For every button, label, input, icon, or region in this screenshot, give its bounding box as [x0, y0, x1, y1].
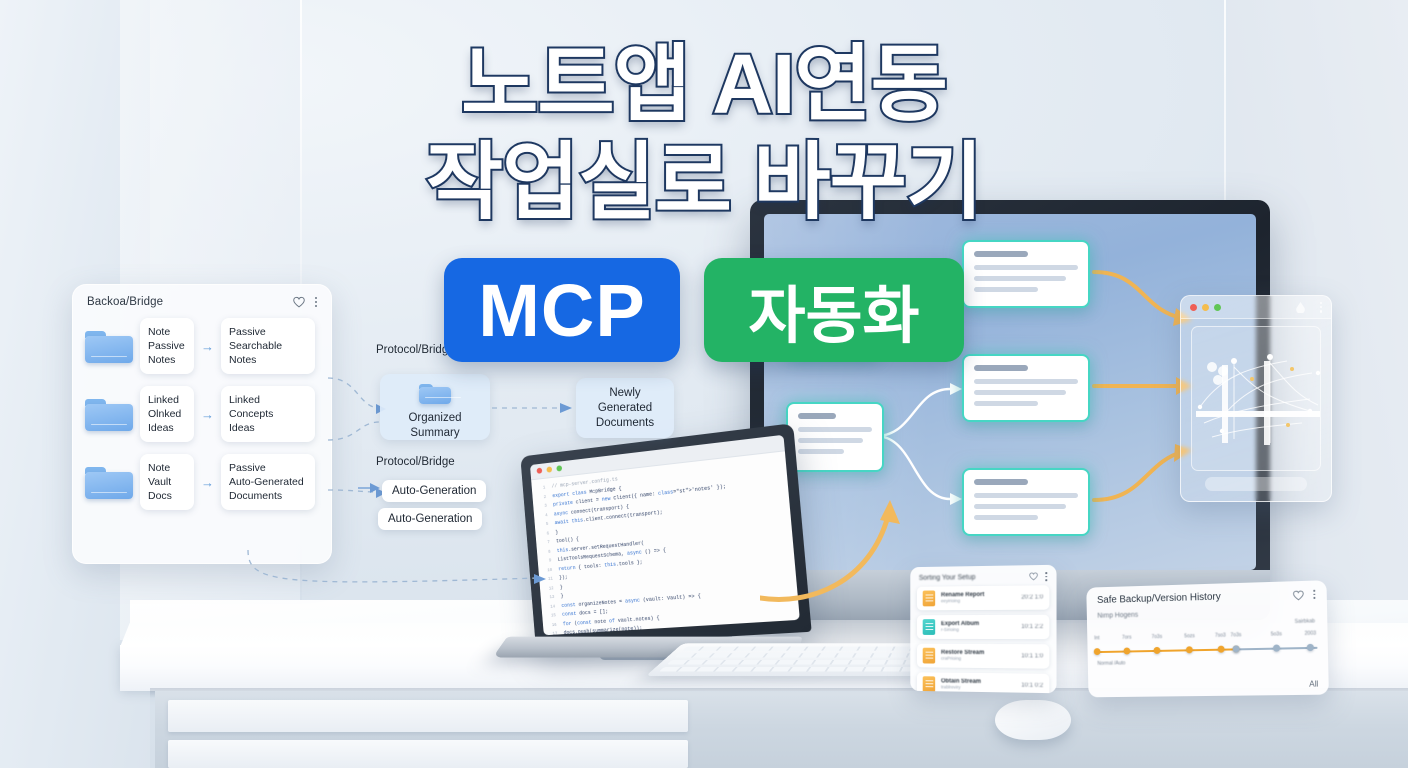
auto-generation-pill[interactable]: Auto-Generation	[378, 508, 482, 530]
badge-row: MCP 자동화	[0, 258, 1408, 362]
chart-bottom-label: Normal /Auto	[1097, 660, 1125, 666]
version-timeline-chart[interactable]: Sairbkab Normal /Auto Int7ors7o3s5ozs7so…	[1097, 616, 1319, 678]
traffic-light-minimize-icon[interactable]	[546, 466, 552, 472]
doc-card	[786, 402, 884, 472]
doc-line	[798, 449, 844, 454]
editor-code[interactable]: // mcp-server.config.tsexport class McpB…	[531, 450, 800, 635]
docs-line: Newly	[609, 387, 640, 399]
file-time: 10:1 0:2	[1021, 682, 1043, 688]
doc-line	[974, 379, 1078, 384]
chip-line: Passive	[229, 462, 266, 474]
file-sub: craPrioing	[941, 656, 1015, 662]
summary-line: Summary	[410, 427, 459, 439]
page-title-line1: 노트앱 AI연동	[0, 42, 1408, 126]
list-item[interactable]: Linked Olnked Ideas → Linked Concepts Id…	[73, 384, 331, 442]
chart-tick-label: 7o3s	[1152, 634, 1163, 640]
chip-line: Ideas	[148, 422, 174, 434]
chart-data-point[interactable]	[1217, 646, 1224, 653]
document-icon	[923, 647, 935, 663]
file-sub: trablreviry	[941, 685, 1015, 691]
doc-line	[798, 438, 863, 443]
file-time: 20:2 1:0	[1021, 594, 1043, 600]
chart-tick-label: 7ors	[1122, 635, 1132, 641]
protocol-label-bottom: Protocol/Bridge	[376, 456, 455, 468]
docs-line: Generated	[598, 402, 652, 414]
dashed-connector-bottom	[238, 540, 558, 600]
all-label[interactable]: All	[1309, 679, 1318, 688]
laptop-screen: 1234567891011121314151617181920 // mcp-s…	[530, 435, 800, 636]
chip-line: Note	[148, 462, 170, 474]
kebab-menu-icon[interactable]	[1046, 572, 1048, 581]
backup-version-history-card[interactable]: Safe Backup/Version History Nimp Hogens …	[1086, 580, 1329, 697]
doc-line	[974, 504, 1066, 509]
organized-summary-card[interactable]: Organized Summary	[380, 374, 490, 440]
target-chip: Passive Auto-Generated Documents	[221, 454, 315, 510]
backup-card-title: Safe Backup/Version History	[1097, 592, 1221, 606]
source-chip: Note Vault Docs	[140, 454, 194, 510]
folder-icon	[85, 397, 133, 431]
folder-icon	[85, 465, 133, 499]
doc-card	[962, 468, 1090, 536]
traffic-light-close-icon[interactable]	[536, 468, 542, 474]
chart-tick-label: Int	[1094, 635, 1099, 641]
chart-data-point[interactable]	[1186, 646, 1193, 653]
file-time: 10:1 2:2	[1021, 624, 1043, 630]
document-icon	[923, 619, 935, 635]
chart-tick-label: 5ozs	[1184, 633, 1195, 639]
kebab-menu-icon[interactable]	[1313, 589, 1315, 599]
summary-to-docs-arrow-icon	[490, 398, 576, 418]
document-icon	[923, 590, 935, 606]
chip-line: Olnked	[148, 408, 181, 420]
chip-line: Vault	[148, 476, 171, 488]
auto-generation-pill[interactable]: Auto-Generation	[382, 480, 486, 502]
arrow-right-icon: →	[201, 407, 214, 422]
poster-canvas: 1234567891011121314151617181920 // mcp-s…	[0, 0, 1408, 768]
code-line: return generateDocuments(docs);	[565, 635, 796, 636]
chart-data-point[interactable]	[1233, 645, 1240, 652]
doc-line	[798, 413, 836, 419]
badge-mcp[interactable]: MCP	[444, 258, 680, 362]
target-chip: Linked Concepts Ideas	[221, 386, 315, 442]
chip-line: Linked	[148, 394, 179, 406]
summary-line: Organized	[408, 412, 461, 424]
list-item[interactable]: Export Albumr-Sirioing 10:1 2:2	[917, 615, 1049, 639]
heart-icon[interactable]	[1029, 573, 1038, 581]
list-item[interactable]: Note Vault Docs → Passive Auto-Generated…	[73, 452, 331, 510]
chart-data-point[interactable]	[1094, 648, 1101, 655]
chart-tick-label: 2003	[1305, 631, 1317, 637]
file-sub: r-Sirioing	[941, 627, 1015, 632]
newly-generated-docs-card[interactable]: Newly Generated Documents	[576, 378, 674, 438]
laptop-lid: 1234567891011121314151617181920 // mcp-s…	[520, 423, 811, 647]
mouse[interactable]	[995, 700, 1071, 740]
list-item[interactable]: Rename Reporteeyirioing 20:2 1:0	[917, 585, 1049, 610]
timeline-segment-archived	[1097, 648, 1236, 653]
chart-data-point[interactable]	[1307, 644, 1314, 651]
chip-line: Concepts	[229, 408, 273, 420]
file-list-card[interactable]: Sorting Your Setup Rename Reporteeyirioi…	[910, 565, 1056, 693]
file-card-header: Sorting Your Setup	[910, 565, 1056, 587]
heart-icon[interactable]	[1293, 590, 1304, 600]
doc-line	[974, 390, 1066, 395]
file-sub: eeyirioing	[941, 598, 1015, 604]
doc-line	[974, 515, 1038, 520]
folder-icon	[419, 382, 451, 404]
doc-line	[974, 479, 1028, 485]
chart-data-point[interactable]	[1273, 644, 1280, 651]
chip-line: Docs	[148, 490, 172, 502]
doc-line	[798, 427, 872, 432]
chart-data-point[interactable]	[1124, 647, 1131, 654]
chip-line: Documents	[229, 490, 282, 502]
docs-line: Documents	[596, 417, 654, 429]
doc-line	[974, 493, 1078, 498]
desk-drawer-top	[168, 700, 688, 732]
chart-tick-label: 7so3	[1215, 633, 1226, 639]
page-title-line2: 작업실로 바꾸기	[0, 140, 1408, 224]
doc-line	[974, 251, 1028, 257]
chart-data-point[interactable]	[1154, 647, 1161, 654]
doc-line	[974, 401, 1038, 406]
chart-right-label: Sairbkab	[1295, 618, 1315, 625]
document-icon	[923, 676, 935, 692]
doc-card	[962, 354, 1090, 422]
arrow-right-icon: →	[201, 475, 214, 490]
source-chip: Linked Olnked Ideas	[140, 386, 194, 442]
badge-automation[interactable]: 자동화	[704, 258, 964, 362]
file-time: 10:1 1:0	[1021, 653, 1043, 659]
chart-tick-label: 5o3s	[1271, 631, 1282, 637]
list-item[interactable]: Obtain Streamtrablreviry 10:1 0:2	[917, 672, 1049, 693]
chip-line: Linked	[229, 394, 260, 406]
arrow-right-icon	[356, 478, 382, 498]
list-item[interactable]: Restore StreamcraPrioing 10:1 1:0	[917, 644, 1049, 669]
window-footer-bar	[1205, 477, 1307, 491]
chip-line: Ideas	[229, 422, 255, 434]
file-card-title: Sorting Your Setup	[919, 574, 976, 582]
desk-drawer-bottom	[168, 740, 688, 768]
chip-line: Auto-Generated	[229, 476, 304, 488]
traffic-light-maximize-icon[interactable]	[556, 465, 562, 471]
chart-tick-label: 7o3s	[1230, 632, 1241, 638]
doc-line	[974, 365, 1028, 371]
